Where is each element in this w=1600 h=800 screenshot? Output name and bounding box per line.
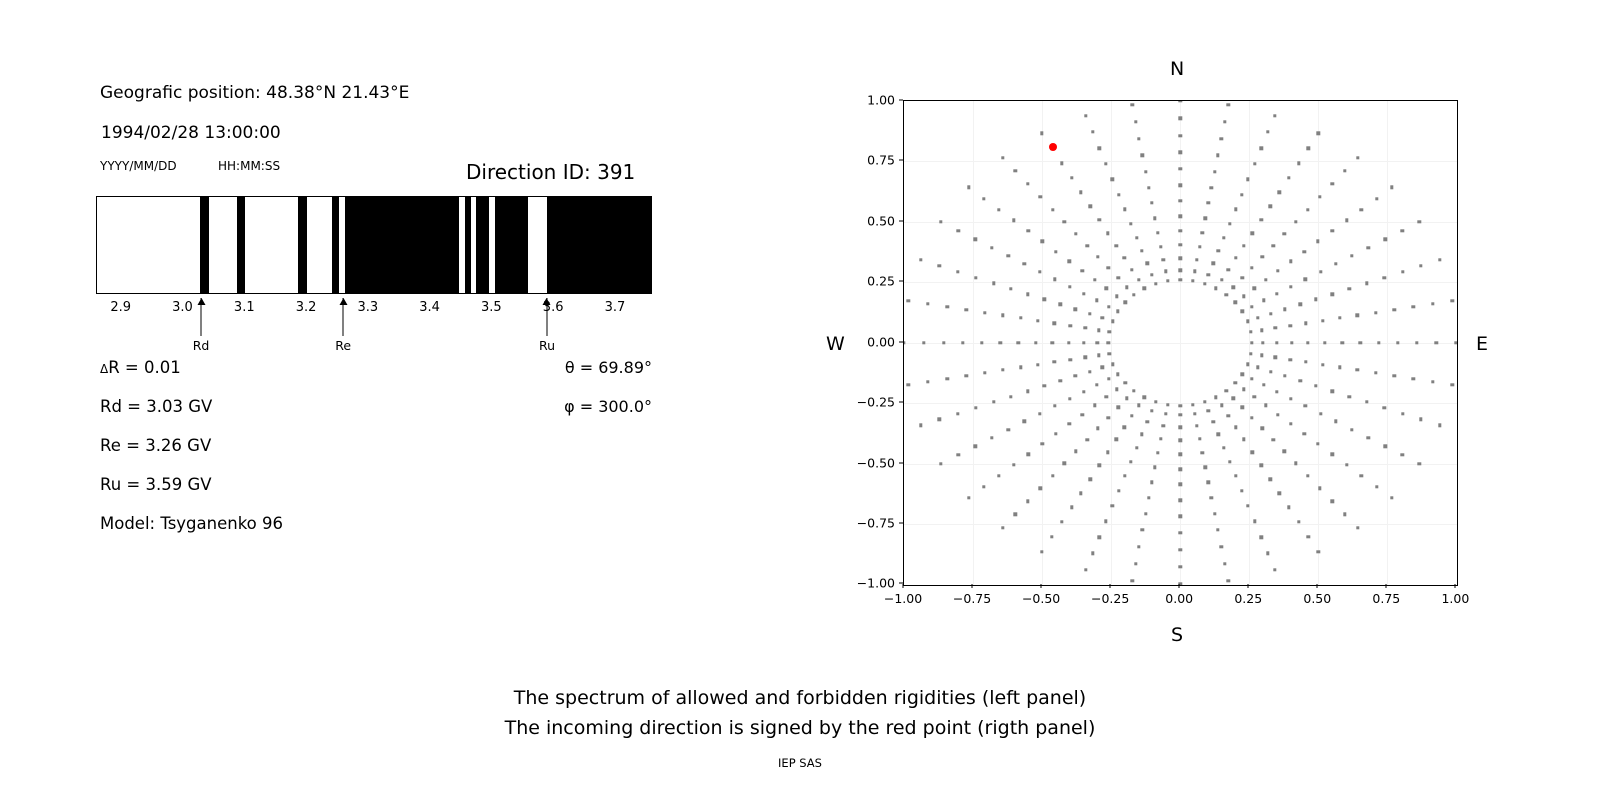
direction-dot [1178, 117, 1181, 120]
direction-dot [1104, 520, 1107, 523]
direction-dot [1040, 550, 1043, 553]
direction-dot [1246, 362, 1249, 365]
direction-dot [1375, 197, 1378, 200]
direction-dot [1108, 352, 1111, 355]
direction-dot [1131, 579, 1134, 582]
direction-dot [1038, 270, 1041, 273]
direction-dot [1253, 520, 1256, 523]
direction-dot [1107, 305, 1110, 308]
direction-dot [1084, 114, 1087, 117]
direction-dot [1135, 446, 1138, 449]
direction-dot [1053, 404, 1056, 407]
spectrum-tick-label: 3.1 [234, 300, 255, 315]
direction-dot [1256, 366, 1259, 369]
direction-dot [1116, 276, 1119, 279]
direction-dot [1123, 208, 1126, 211]
rd-value: Rd = 3.03 GV [100, 397, 212, 416]
direction-dot [1288, 358, 1291, 361]
direction-dot [1023, 420, 1026, 423]
direction-dot [1451, 383, 1454, 386]
date-format-hint: YYYY/MM/DD [100, 159, 177, 173]
direction-dot [1178, 199, 1181, 202]
direction-dot [1178, 439, 1181, 442]
direction-dot [1390, 186, 1393, 189]
direction-dot [1331, 453, 1334, 456]
direction-dot [1264, 278, 1267, 281]
direction-dot [1253, 162, 1256, 165]
direction-dot [922, 341, 925, 344]
direction-dot [956, 270, 959, 273]
direction-dot [1123, 474, 1126, 477]
direction-dot [1097, 328, 1100, 331]
direction-dot [1260, 464, 1263, 467]
direction-dot [1251, 231, 1254, 234]
direction-dot [1001, 314, 1004, 317]
direction-dot [1130, 268, 1133, 271]
spectrum-tick-label: 3.0 [172, 300, 193, 315]
direction-dot [1226, 103, 1229, 106]
direction-dot [1289, 422, 1292, 425]
direction-dot [1303, 432, 1306, 435]
direction-dot [1123, 381, 1126, 384]
direction-dot [1250, 341, 1253, 344]
direction-dot [1227, 414, 1230, 417]
direction-dot [980, 341, 983, 344]
direction-dot [1116, 310, 1119, 313]
direction-dot [1074, 450, 1077, 453]
direction-dot [1271, 438, 1274, 441]
rigidity-spectrum-chart [96, 196, 652, 294]
direction-dot [939, 462, 942, 465]
direction-dot [1106, 451, 1109, 454]
direction-dot [919, 258, 922, 261]
direction-dot [1374, 311, 1377, 314]
direction-dot [1074, 308, 1077, 311]
direction-dot [1115, 294, 1118, 297]
direction-dot [1246, 504, 1249, 507]
marker-arrow-re-icon [343, 298, 344, 336]
direction-dot [1111, 178, 1114, 181]
spectrum-x-axis: 2.93.03.13.23.33.43.53.63.7RdReRu [96, 294, 652, 296]
direction-dot [1135, 236, 1138, 239]
direction-dot [1223, 120, 1226, 123]
direction-dot [1287, 176, 1290, 179]
gridline-horizontal [904, 524, 1457, 525]
direction-dot [1356, 314, 1359, 317]
direction-dot [990, 436, 993, 439]
direction-dot [1275, 292, 1278, 295]
direction-dot [1232, 286, 1235, 289]
direction-dot [1101, 316, 1104, 319]
selected-direction-marker[interactable] [1049, 143, 1057, 151]
direction-dot [1314, 384, 1317, 387]
direction-dot [1068, 422, 1071, 425]
direction-dot [1234, 381, 1237, 384]
direction-dot [1178, 531, 1181, 534]
direction-dot [1359, 341, 1362, 344]
y-tickmark [899, 583, 903, 584]
direction-dot [1273, 114, 1276, 117]
direction-dot [1396, 341, 1399, 344]
direction-dot [1162, 424, 1165, 427]
y-tickmark [899, 522, 903, 523]
direction-dot [1040, 132, 1043, 135]
y-axis-tick-label: −0.50 [841, 455, 895, 470]
direction-dot [1095, 299, 1098, 302]
direction-dot [1418, 462, 1421, 465]
x-tickmark [1455, 584, 1456, 588]
direction-dot [1082, 341, 1085, 344]
direction-dot [1275, 390, 1278, 393]
direction-dot [1140, 433, 1143, 436]
y-tickmark [899, 160, 903, 161]
direction-dot [1306, 341, 1309, 344]
direction-dot [1393, 374, 1396, 377]
direction-dot [1232, 396, 1235, 399]
gridline-horizontal [904, 282, 1457, 283]
spectrum-tick-label: 3.7 [605, 300, 626, 315]
gridline-horizontal [904, 343, 1457, 344]
direction-dot [1241, 276, 1244, 279]
direction-dot [1314, 298, 1317, 301]
direction-dot [1023, 262, 1026, 265]
direction-dot [1228, 460, 1231, 463]
direction-dot [1178, 565, 1181, 568]
x-axis-tick-label: −0.25 [1091, 591, 1129, 606]
direction-dot [1145, 262, 1148, 265]
direction-dot [1367, 246, 1370, 249]
y-axis-tick-label: −0.25 [841, 395, 895, 410]
direction-dot [1216, 154, 1219, 157]
x-axis-tick-label: 0.75 [1372, 591, 1400, 606]
direction-dot [1144, 170, 1147, 173]
direction-dot [1081, 269, 1084, 272]
direction-dot [1107, 341, 1110, 344]
direction-dot [1058, 379, 1061, 382]
direction-dot [1143, 287, 1146, 290]
direction-dot [1365, 282, 1368, 285]
direction-dot [1074, 374, 1077, 377]
direction-dot [974, 445, 977, 448]
direction-dot [1216, 528, 1219, 531]
direction-dot [1026, 453, 1029, 456]
direction-dot [1207, 481, 1210, 484]
direction-dot [1086, 438, 1089, 441]
direction-dot [1068, 397, 1071, 400]
direction-dot [1150, 409, 1153, 412]
phi-value: φ = 300.0° [430, 397, 652, 416]
direction-dot [926, 380, 929, 383]
direction-dot [1211, 262, 1214, 265]
direction-dot [1093, 278, 1096, 281]
direction-dot [1038, 412, 1041, 415]
direction-dot [1154, 400, 1157, 403]
direction-dot [1455, 341, 1458, 344]
direction-dot [1400, 453, 1403, 456]
x-tickmark [1110, 584, 1111, 588]
x-tickmark [972, 584, 973, 588]
direction-dot [1303, 250, 1306, 253]
direction-dot [1178, 167, 1181, 170]
direction-dot [1365, 400, 1368, 403]
direction-dot [1007, 428, 1010, 431]
direction-dot [1260, 354, 1263, 357]
direction-dot [1214, 287, 1217, 290]
direction-dot [1222, 236, 1225, 239]
gridline-horizontal [904, 161, 1457, 162]
direction-dot [1083, 356, 1086, 359]
direction-dot [1097, 218, 1100, 221]
direction-dot [1195, 258, 1198, 261]
spectrum-tick-label: 3.4 [419, 300, 440, 315]
direction-dot [1259, 146, 1262, 149]
direction-dot [1178, 404, 1181, 407]
direction-dot [1269, 312, 1272, 315]
direction-dot [957, 453, 960, 456]
direction-dot [1400, 229, 1403, 232]
direction-id-label: Direction ID: 391 [466, 160, 635, 184]
direction-dot [1294, 220, 1297, 223]
direction-dot [1001, 368, 1004, 371]
direction-dot [1132, 293, 1135, 296]
direction-dot [1104, 162, 1107, 165]
direction-dot [1178, 425, 1181, 428]
direction-dot [1153, 466, 1156, 469]
caption-line-2: The incoming direction is signed by the … [0, 717, 1600, 739]
direction-dot [1036, 319, 1039, 322]
direction-dot [1198, 245, 1201, 248]
direction-dot [1271, 244, 1274, 247]
direction-dot [1217, 433, 1220, 436]
direction-dot [1079, 191, 1082, 194]
direction-dot [1147, 186, 1150, 189]
re-value: Re = 3.26 GV [100, 436, 211, 455]
y-tickmark [899, 100, 903, 101]
direction-dot [1345, 219, 1348, 222]
direction-dot [1178, 483, 1181, 486]
direction-dot [1321, 319, 1324, 322]
direction-dot [1084, 568, 1087, 571]
direction-dot [1156, 231, 1159, 234]
y-tickmark [899, 402, 903, 403]
direction-dot [1178, 257, 1181, 260]
direction-dot [1334, 262, 1337, 265]
direction-dot [1338, 316, 1341, 319]
direction-dot [1304, 322, 1307, 325]
direction-dot [1001, 526, 1004, 529]
direction-dot [1304, 278, 1307, 281]
direction-dot [1053, 322, 1056, 325]
direction-dot [974, 237, 977, 240]
forbidden-band [495, 197, 528, 293]
direction-dot [1278, 191, 1281, 194]
direction-dot [1252, 287, 1255, 290]
direction-dot [1297, 162, 1300, 165]
direction-dot [1081, 413, 1084, 416]
direction-dot [1150, 273, 1153, 276]
direction-dot [1242, 438, 1245, 441]
direction-dot [1225, 389, 1228, 392]
direction-dot [1283, 308, 1286, 311]
direction-dot [1117, 489, 1120, 492]
direction-dot [1307, 147, 1310, 150]
direction-dot [1289, 285, 1292, 288]
direction-dot [1418, 220, 1421, 223]
direction-dot [1068, 260, 1071, 263]
direction-dot [1137, 404, 1140, 407]
direction-dot [1159, 245, 1162, 248]
direction-dot [1164, 412, 1167, 415]
direction-dot [1069, 358, 1072, 361]
direction-dot [1166, 279, 1169, 282]
direction-dot [1096, 427, 1099, 430]
direction-dot [1242, 388, 1245, 391]
direction-dot [1331, 293, 1334, 296]
direction-dot [1260, 328, 1263, 331]
direction-dot [1050, 535, 1053, 538]
direction-dot [1360, 474, 1363, 477]
direction-dot [1299, 303, 1302, 306]
direction-dot [1203, 400, 1206, 403]
direction-dot [1304, 404, 1307, 407]
direction-dot [1079, 491, 1082, 494]
direction-dot [1356, 368, 1359, 371]
direction-dot [903, 341, 906, 344]
direction-dot [1250, 305, 1253, 308]
direction-dot [1276, 413, 1279, 416]
x-axis-tick-label: −1.00 [884, 591, 922, 606]
direction-dot [1220, 545, 1223, 548]
direction-dot [1356, 526, 1359, 529]
direction-dot [1264, 404, 1267, 407]
direction-dot [1016, 341, 1019, 344]
direction-dot [1318, 195, 1321, 198]
direction-dot [1012, 219, 1015, 222]
direction-dot [1095, 383, 1098, 386]
direction-dot [1262, 383, 1265, 386]
direction-dot [1316, 240, 1319, 243]
direction-dot [992, 400, 995, 403]
direction-dot [1250, 377, 1253, 380]
direction-dot [1105, 287, 1108, 290]
direction-dot [1251, 451, 1254, 454]
y-tickmark [899, 341, 903, 342]
direction-map-panel: N S W E −1.00−0.75−0.50−0.250.000.250.50… [800, 0, 1600, 800]
direction-dot [982, 197, 985, 200]
direction-dot [1241, 310, 1244, 313]
direction-dot [1383, 445, 1386, 448]
direction-dot [1316, 442, 1319, 445]
direction-dot [1051, 474, 1054, 477]
direction-dot [1130, 414, 1133, 417]
direction-dot [1193, 412, 1196, 415]
direction-dot [1036, 363, 1039, 366]
direction-dot [1274, 326, 1277, 329]
direction-dot [1226, 579, 1229, 582]
direction-dot [1283, 374, 1286, 377]
direction-dot [1195, 424, 1198, 427]
direction-dot [906, 383, 909, 386]
direction-dot [1278, 491, 1281, 494]
direction-dot [1307, 535, 1310, 538]
direction-dot [1039, 487, 1042, 490]
direction-dot [942, 341, 945, 344]
direction-dot [1204, 216, 1207, 219]
direction-dot [1117, 193, 1120, 196]
direction-dot [1141, 154, 1144, 157]
direction-dot [1070, 176, 1073, 179]
compass-east-label: E [1476, 333, 1488, 355]
direction-dot [1111, 320, 1114, 323]
spectrum-tick-label: 3.3 [357, 300, 378, 315]
direction-dot [1051, 341, 1054, 344]
direction-dot [1228, 222, 1231, 225]
direction-dot [1225, 293, 1228, 296]
direction-dot [974, 276, 977, 279]
direction-dot [1318, 487, 1321, 490]
direction-dot [1321, 363, 1324, 366]
direction-dot [1107, 416, 1110, 419]
direction-dot [945, 377, 948, 380]
direction-dot [1162, 258, 1165, 261]
direction-dot [1201, 451, 1204, 454]
direction-dot [1082, 390, 1085, 393]
direction-dot [1054, 250, 1057, 253]
direction-dot [1067, 341, 1070, 344]
direction-dot [967, 186, 970, 189]
direction-dot [1116, 372, 1119, 375]
direction-dot [1088, 312, 1091, 315]
direction-dot [1331, 389, 1334, 392]
direction-dot [1269, 205, 1272, 208]
direction-dot [1159, 437, 1162, 440]
direction-dot [1141, 528, 1144, 531]
direction-dot [1207, 201, 1210, 204]
direction-dot [1145, 420, 1148, 423]
direction-dot [1276, 269, 1279, 272]
x-tickmark [1317, 584, 1318, 588]
direction-dot [957, 229, 960, 232]
direction-dot [992, 282, 995, 285]
direction-dot [1105, 395, 1108, 398]
direction-dot [1242, 294, 1245, 297]
y-axis-tick-label: 0.75 [841, 153, 895, 168]
direction-dot [1222, 446, 1225, 449]
direction-dot [1367, 436, 1370, 439]
direction-dot [1438, 424, 1441, 427]
direction-dot [1115, 244, 1118, 247]
direction-dot [1377, 341, 1380, 344]
direction-dot [1234, 208, 1237, 211]
direction-dot [1210, 186, 1213, 189]
direction-dot [1435, 341, 1438, 344]
direction-dot [1223, 562, 1226, 565]
direction-dot [1273, 568, 1276, 571]
y-axis-tick-label: 1.00 [841, 93, 895, 108]
direction-dot [997, 474, 1000, 477]
direction-dot [1317, 550, 1320, 553]
direction-dot [1319, 412, 1322, 415]
direction-dot [1261, 341, 1264, 344]
direction-dot [1201, 231, 1204, 234]
direction-dot [1210, 496, 1213, 499]
direction-dot [1412, 377, 1415, 380]
direction-dot [1125, 396, 1128, 399]
direction-dot [1246, 178, 1249, 181]
forbidden-band [200, 197, 210, 293]
direction-dot [1178, 100, 1181, 103]
direction-dot [1134, 120, 1137, 123]
